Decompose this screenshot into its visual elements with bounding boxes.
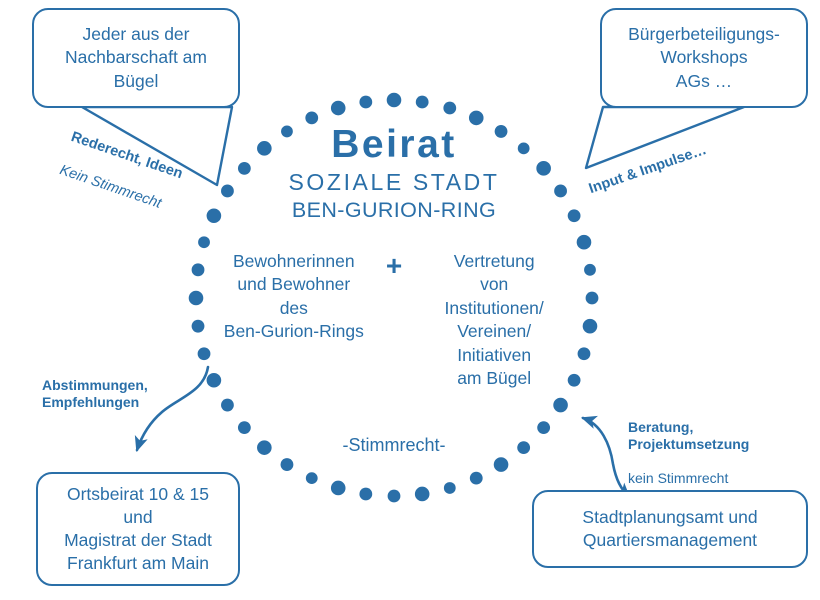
dotted-circle-ring <box>189 93 599 503</box>
ring-dot <box>207 208 222 223</box>
ring-dot <box>192 263 205 276</box>
bubble-top-left-neighbourhood[interactable]: Jeder aus der Nachbarschaft am Bügel <box>32 8 240 108</box>
ring-dot <box>444 482 456 494</box>
ring-dot <box>578 347 591 360</box>
edge-label-bottom-right-lead: Beratung, Projektumsetzung <box>628 419 808 453</box>
ring-dot <box>583 319 598 334</box>
diagram-canvas: Beirat SOZIALE STADT BEN-GURION-RING Bew… <box>0 0 820 600</box>
voting-rights-label: -Stimmrecht- <box>196 435 592 456</box>
ring-dot <box>495 125 508 138</box>
ring-dot <box>536 161 551 176</box>
ring-dot <box>470 472 483 485</box>
ring-dot <box>221 185 234 198</box>
ring-dot <box>518 142 530 154</box>
edge-label-bottom-right-sub: kein Stimmrecht <box>628 470 808 487</box>
ring-dot <box>586 292 599 305</box>
page-subtitle-2: BEN-GURION-RING <box>196 197 592 223</box>
membership-column-residents: Bewohnerinnen und Bewohner des Ben-Gurio… <box>208 250 380 344</box>
edge-label-top-right-lead: Input & Impulse… <box>587 142 709 199</box>
ring-dot <box>387 93 402 108</box>
bubble-top-right-participation[interactable]: Bürgerbeteiligungs- Workshops AGs … <box>600 8 808 108</box>
ring-dot <box>469 111 484 126</box>
ring-dot <box>331 481 346 496</box>
plus-icon: + <box>380 250 408 280</box>
ring-dot <box>305 111 318 124</box>
ring-dot <box>537 421 550 434</box>
ring-dot <box>207 373 222 388</box>
edge-label-bottom-left-lead: Abstimmungen, Empfehlungen <box>42 377 192 411</box>
ring-dot <box>584 264 596 276</box>
ring-dot <box>198 347 211 360</box>
membership-column-institutions: Vertretung von Institutionen/ Vereinen/ … <box>408 250 580 391</box>
ring-dot <box>553 398 568 413</box>
membership-columns: Bewohnerinnen und Bewohner des Ben-Gurio… <box>202 250 586 391</box>
ring-dot <box>238 421 251 434</box>
ring-dot <box>494 457 509 472</box>
edge-label-top-left: Rederecht, Ideen Kein Stimmrecht <box>51 112 190 234</box>
ring-dot <box>257 440 272 455</box>
ring-dot <box>281 458 294 471</box>
ring-dot <box>257 141 272 156</box>
ring-dot <box>198 236 210 248</box>
ring-dot <box>443 102 456 115</box>
ring-dot <box>238 162 251 175</box>
ring-dot <box>359 96 372 109</box>
ring-dot <box>221 399 234 412</box>
ring-dot <box>388 490 401 503</box>
ring-dot <box>359 488 372 501</box>
ring-dot <box>568 209 581 222</box>
ring-dot <box>416 96 429 109</box>
ring-dot <box>554 185 567 198</box>
ring-dot <box>306 472 318 484</box>
ring-dot <box>517 441 530 454</box>
box-bottom-left-ortsbeirat[interactable]: Ortsbeirat 10 & 15 und Magistrat der Sta… <box>36 472 240 586</box>
ring-dot <box>415 487 430 502</box>
edge-label-bottom-right: Beratung, Projektumsetzung kein Stimmrec… <box>628 402 808 504</box>
ring-dot <box>281 126 293 138</box>
ring-dot <box>568 374 581 387</box>
ring-dot <box>331 101 346 116</box>
circle-title-block: Beirat SOZIALE STADT BEN-GURION-RING <box>196 125 592 223</box>
page-subtitle-1: SOZIALE STADT <box>196 168 592 197</box>
ring-dot <box>577 235 592 250</box>
edge-label-top-right: Input & Impulse… <box>581 125 715 215</box>
ring-dot <box>189 291 204 306</box>
page-title: Beirat <box>196 125 592 166</box>
edge-label-bottom-left: Abstimmungen, Empfehlungen <box>42 360 192 428</box>
circle-content: Beirat SOZIALE STADT BEN-GURION-RING Bew… <box>196 100 592 496</box>
arrow-bottom-right <box>583 418 629 497</box>
ring-dot <box>192 320 205 333</box>
